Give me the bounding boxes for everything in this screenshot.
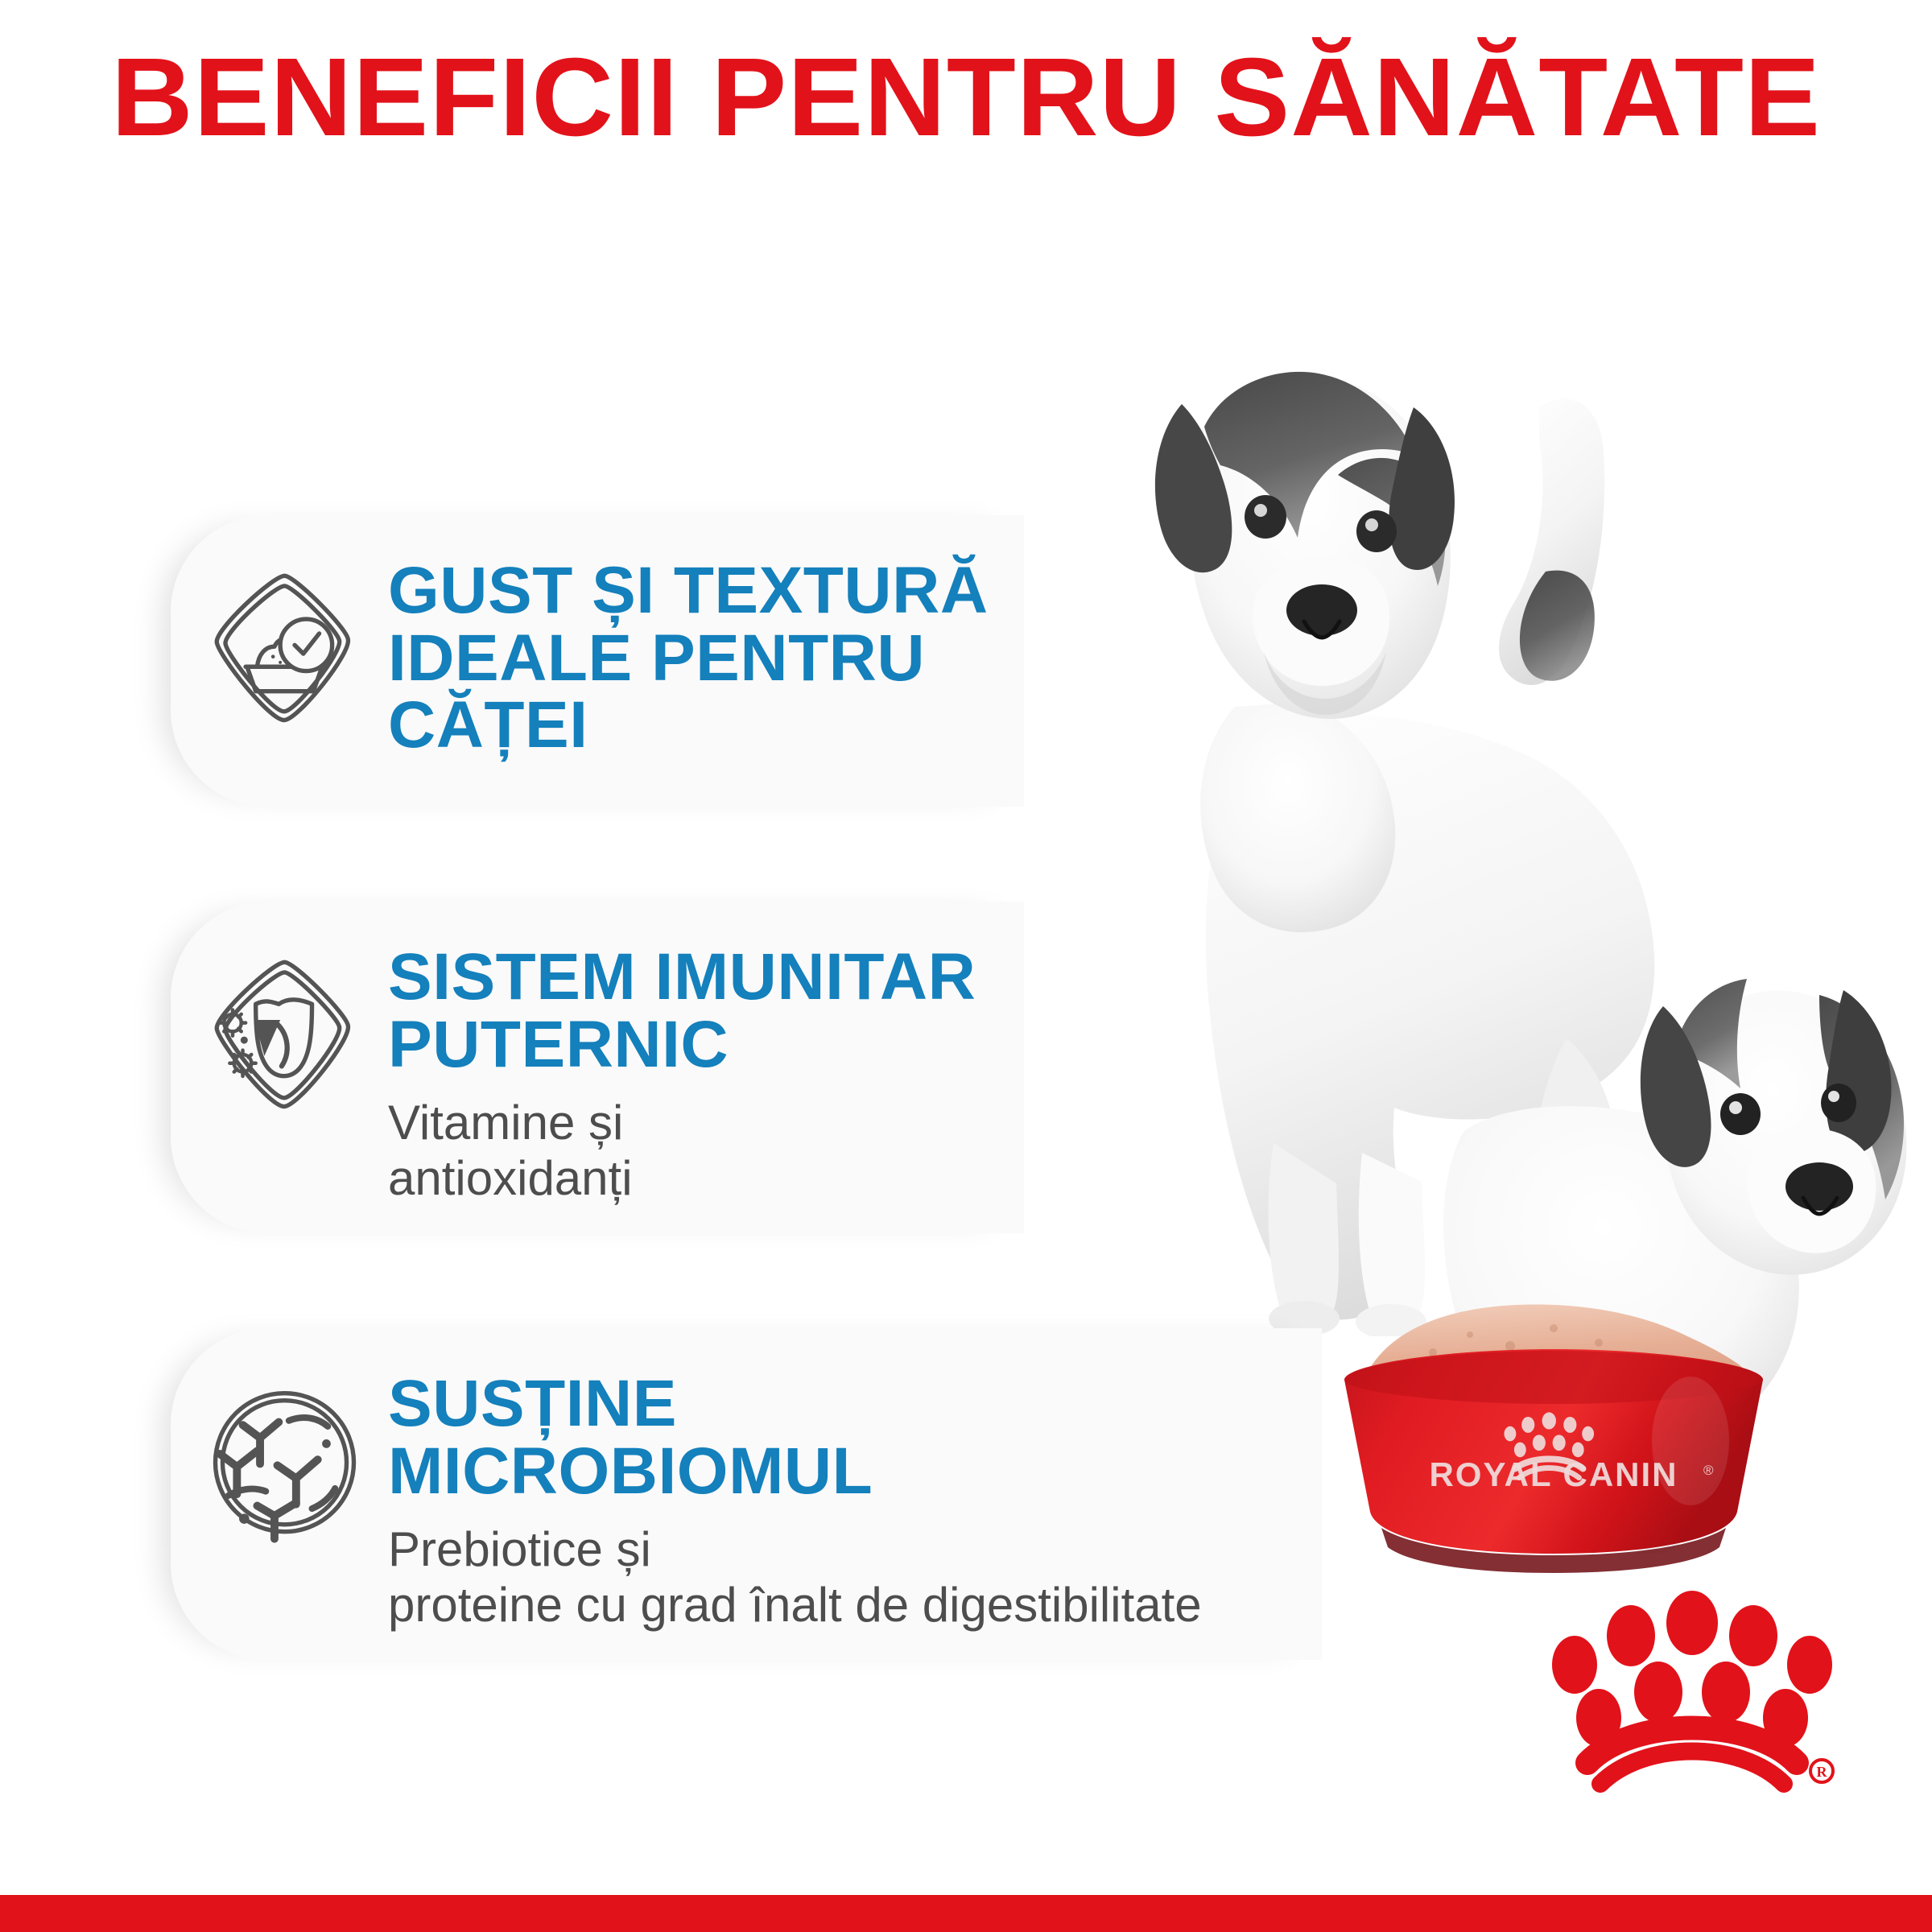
bowl-check-icon <box>171 543 388 758</box>
royal-canin-food-bowl: ROYAL CANIN ® <box>1312 1296 1811 1586</box>
svg-text:R: R <box>1817 1764 1828 1780</box>
marketing-banner: BENEFICII PENTRU SĂNĂTATE <box>0 0 1932 1932</box>
benefit-card-microbiome: SUSȚINE MICROBIOMUL Prebiotice și protei… <box>171 1328 1322 1660</box>
microbiome-icon <box>171 1356 388 1571</box>
bowl-brand-text: ROYAL CANIN <box>1429 1455 1678 1493</box>
shield-germs-icon <box>171 929 388 1145</box>
benefits-list: GUST ȘI TEXTURĂ IDEALE PENTRU CĂȚEI <box>0 515 1288 1660</box>
page-title: BENEFICII PENTRU SĂNĂTATE <box>0 42 1932 153</box>
royal-canin-crown-logo: R <box>1547 1591 1837 1794</box>
benefit-card-immunity: SISTEM IMUNITAR PUTERNIC Vitamine și ant… <box>171 902 1024 1233</box>
benefit-card-taste: GUST ȘI TEXTURĂ IDEALE PENTRU CĂȚEI <box>171 515 1024 807</box>
benefit-heading: SISTEM IMUNITAR PUTERNIC <box>388 943 992 1078</box>
benefit-heading: GUST ȘI TEXTURĂ IDEALE PENTRU CĂȚEI <box>388 557 992 759</box>
benefit-heading: SUSȚINE MICROBIOMUL <box>388 1370 1290 1505</box>
registered-mark-logo: R <box>1810 1760 1833 1782</box>
puppy-dog-photo <box>1441 861 1932 1586</box>
footer-red-bar <box>0 1895 1932 1932</box>
benefit-subtitle: Prebiotice și proteine cu grad înalt de … <box>388 1522 1290 1633</box>
benefit-subtitle: Vitamine și antioxidanți <box>388 1096 992 1206</box>
bowl-registered-mark: ® <box>1703 1463 1714 1478</box>
